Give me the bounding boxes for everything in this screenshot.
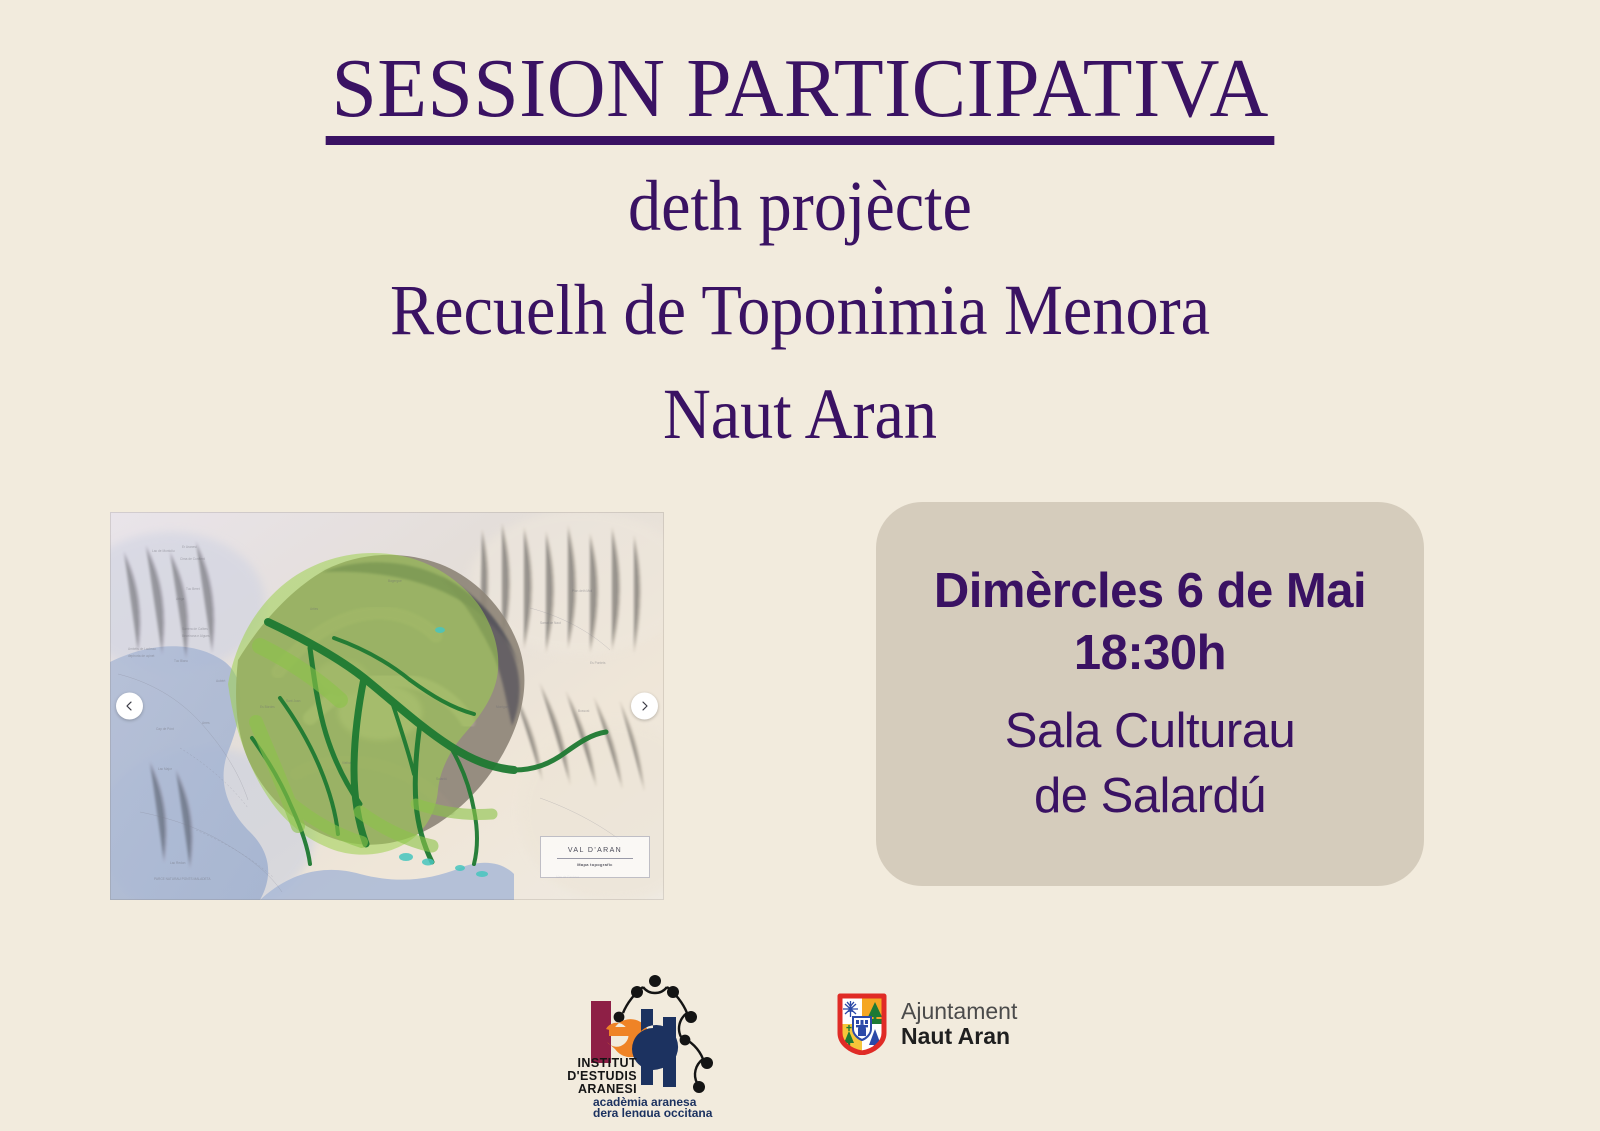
svg-text:Lac Major: Lac Major <box>158 767 173 771</box>
subtitle-line-2: Recuelh de Toponimia Menora <box>64 258 1536 362</box>
page-title: SESSION PARTICIPATIVA <box>326 48 1275 145</box>
event-date: Dimèrcles 6 de Mai <box>934 560 1366 623</box>
svg-text:Plan deth Moli: Plan deth Moli <box>572 589 592 593</box>
title-block: SESSION PARTICIPATIVA deth projècte Recu… <box>0 0 1600 466</box>
svg-text:Bagergue: Bagergue <box>388 579 402 583</box>
naut-aran-coat-of-arms-icon <box>836 993 888 1055</box>
svg-text:Ambèts de Lacbrau: Ambèts de Lacbrau <box>128 647 156 651</box>
svg-text:Vielha: Vielha <box>342 761 351 765</box>
svg-text:Sant Joan: Sant Joan <box>286 699 301 703</box>
svg-text:Bossost: Bossost <box>578 709 589 713</box>
svg-text:Es Pontets: Es Pontets <box>590 661 606 665</box>
svg-text:Artiga: Artiga <box>176 597 185 601</box>
ajuntament-logo: Ajuntament Naut Aran <box>836 993 1017 1055</box>
ajuntament-line-1: Ajuntament <box>901 999 1017 1024</box>
svg-text:Sarrat de Naut: Sarrat de Naut <box>540 621 561 625</box>
footer-logos: INSTITUT D'ESTUDIS ARANESI acadèmia aran… <box>0 957 1600 1117</box>
map-carousel[interactable]: Lac de Montoliu Cima de Conflent Er Aran… <box>110 512 664 900</box>
ajuntament-text: Ajuntament Naut Aran <box>901 999 1017 1049</box>
svg-text:Montgarri: Montgarri <box>496 705 510 709</box>
svg-text:Beceirana e Aïgues: Beceirana e Aïgues <box>182 634 210 638</box>
svg-text:Aubèrt: Aubèrt <box>216 679 226 683</box>
subtitle-line-1: deth projècte <box>64 155 1536 257</box>
chevron-left-icon <box>124 701 135 712</box>
map-legend: VAL D'ARAN Mapa topografic <box>540 836 650 878</box>
iea-logo-mark: INSTITUT D'ESTUDIS ARANESI acadèmia aran… <box>565 965 745 1117</box>
svg-text:Tuc Blanc: Tuc Blanc <box>174 659 188 663</box>
svg-text:Cap de Pònt: Cap de Pònt <box>156 727 174 731</box>
svg-text:Arres: Arres <box>202 721 210 725</box>
svg-text:Lac Redon: Lac Redon <box>170 861 186 865</box>
svg-text:Er Aranesi: Er Aranesi <box>182 545 197 549</box>
svg-text:Sarrèra de Calbes: Sarrèra de Calbes <box>182 627 208 631</box>
event-info-panel: Dimèrcles 6 de Mai 18:30h Sala Culturau … <box>876 502 1424 886</box>
iea-name-line-3: ARANESI <box>578 1082 637 1096</box>
event-time: 18:30h <box>1074 622 1226 685</box>
iea-logo: INSTITUT D'ESTUDIS ARANESI acadèmia aran… <box>565 965 745 1117</box>
svg-text:dephorta de uçinet: dephorta de uçinet <box>128 654 155 658</box>
event-venue-line-2: de Salardú <box>1034 764 1266 829</box>
svg-text:Lac de Montoliu: Lac de Montoliu <box>152 549 175 553</box>
iea-letter-i <box>591 1001 611 1063</box>
carousel-prev-button[interactable] <box>116 693 143 720</box>
ajuntament-line-2: Naut Aran <box>901 1024 1017 1049</box>
iea-name-line-1: INSTITUT <box>578 1056 637 1070</box>
svg-text:Es Bòrdes: Es Bòrdes <box>260 705 275 709</box>
map-legend-subtitle: Mapa topografic <box>577 862 612 867</box>
subtitle-line-3: Naut Aran <box>64 362 1536 466</box>
chevron-right-icon <box>639 701 650 712</box>
iea-letter-a <box>632 1009 678 1087</box>
svg-text:Cima de Conflent: Cima de Conflent <box>180 557 205 561</box>
svg-text:PARCE NATURAU PONTS MALADETA: PARCE NATURAU PONTS MALADETA <box>154 877 211 881</box>
svg-text:Arties: Arties <box>310 607 319 611</box>
svg-text:Tuc Beret: Tuc Beret <box>186 587 200 591</box>
iea-name-line-2: D'ESTUDIS <box>567 1069 637 1083</box>
event-venue-line-1: Sala Culturau <box>1005 699 1295 764</box>
map-legend-title: VAL D'ARAN <box>568 847 622 854</box>
svg-text:Salardú: Salardú <box>436 777 447 781</box>
carousel-next-button[interactable] <box>631 693 658 720</box>
iea-tagline-line-2: dera lengua occitana <box>593 1106 713 1117</box>
map-legend-rule <box>557 858 633 859</box>
